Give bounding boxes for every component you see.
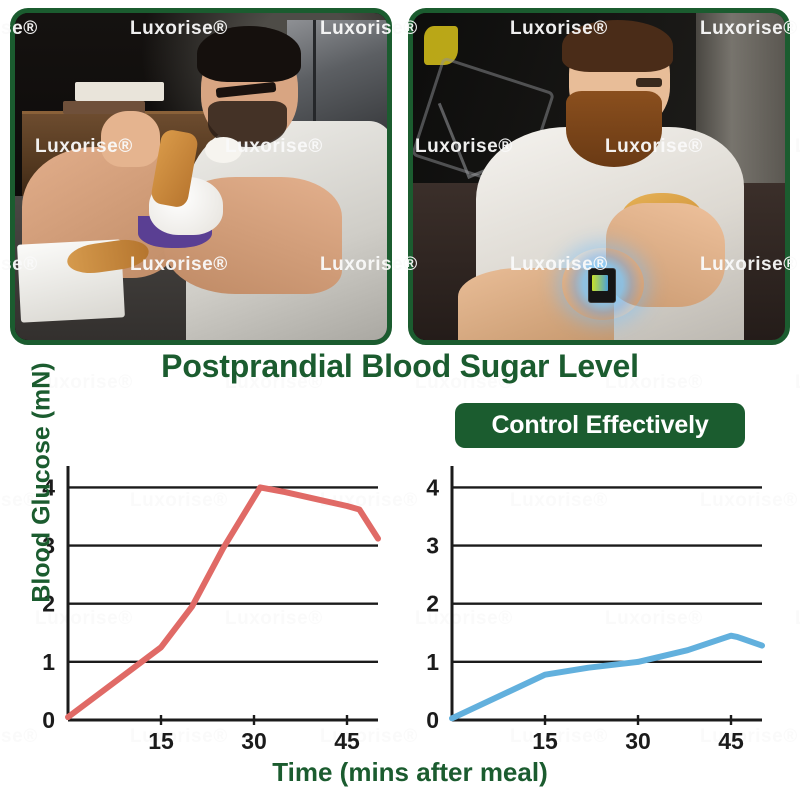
photo-left-window-frame (313, 20, 316, 131)
page-title: Postprandial Blood Sugar Level (0, 348, 800, 385)
x-tick-label-15: 15 (532, 728, 558, 754)
status-badge-label: Control Effectively (491, 411, 708, 440)
data-line-uncontrolled-blood-glucose (68, 487, 378, 717)
photo-left-hair (197, 26, 301, 82)
photo-left-image (15, 13, 387, 340)
photo-right (408, 8, 790, 345)
y-tick-label-1: 1 (426, 649, 439, 675)
chart-controlled: 15304501234 (426, 466, 762, 754)
y-tick-label-3: 3 (426, 533, 439, 559)
x-tick-label-30: 30 (625, 728, 651, 754)
charts-region: 15304501234 15304501234 (0, 452, 800, 800)
x-tick-label-30: 30 (241, 728, 267, 754)
charts-svg: 15304501234 15304501234 (0, 452, 800, 800)
y-tick-label-4: 4 (426, 474, 439, 500)
photo-right-device-screen (592, 275, 609, 291)
x-tick-label-45: 45 (334, 728, 360, 754)
photo-left-raised-hand (101, 111, 161, 167)
photo-right-image (413, 13, 785, 340)
photo-right-beard (566, 91, 663, 166)
photo-left-book-white (75, 82, 164, 102)
photo-right-eye (636, 78, 662, 86)
y-tick-label-1: 1 (42, 649, 55, 675)
x-tick-label-45: 45 (718, 728, 744, 754)
chart-uncontrolled: 15304501234 (42, 466, 378, 754)
y-tick-label-0: 0 (426, 707, 439, 733)
photo-left-window (287, 20, 387, 131)
x-axis-label: Time (mins after meal) (150, 757, 670, 788)
y-tick-label-0: 0 (42, 707, 55, 733)
photo-right-hair (562, 20, 674, 72)
y-tick-label-2: 2 (426, 591, 439, 617)
status-badge: Control Effectively (455, 403, 745, 448)
photo-strip (0, 0, 800, 345)
y-axis-label: Blood Glucose (mN) (28, 353, 57, 613)
x-tick-label-15: 15 (148, 728, 174, 754)
photo-left (10, 8, 392, 345)
data-line-controlled-blood-glucose (452, 636, 762, 719)
